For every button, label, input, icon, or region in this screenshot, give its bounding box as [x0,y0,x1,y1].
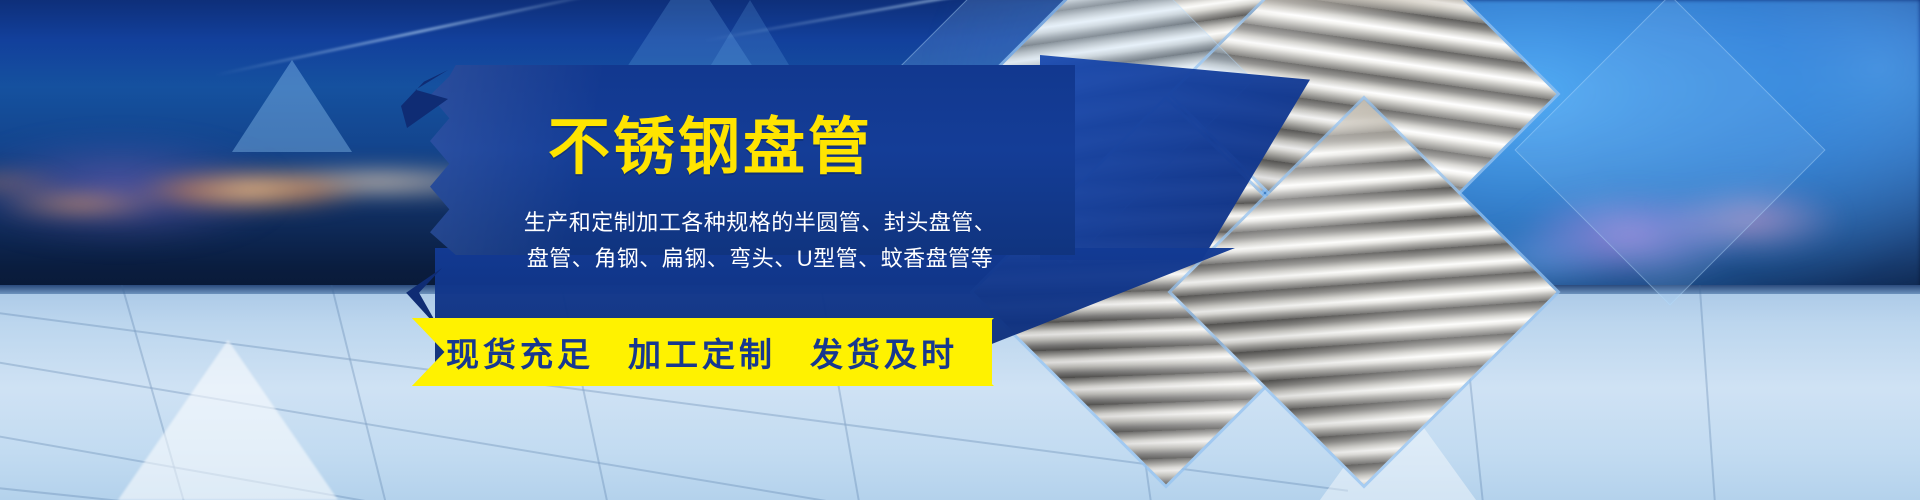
subtitle-line-2: 盘管、角钢、扁钢、弯头、U型管、蚊香盘管等 [500,241,1020,277]
selling-point-1: 现货充足 [446,328,594,376]
decor-triangle-left [232,60,352,152]
selling-point-2: 加工定制 [628,328,776,376]
page-title: 不锈钢盘管 [548,96,873,186]
subtitle-line-1: 生产和定制加工各种规格的半圆管、封头盘管、 [500,205,1020,241]
decor-triangle-white-left [118,340,338,500]
subtitle: 生产和定制加工各种规格的半圆管、封头盘管、 盘管、角钢、扁钢、弯头、U型管、蚊香… [500,205,1020,277]
selling-points-list: 现货充足 加工定制 发货及时 [412,318,992,386]
product-hero-banner: 不锈钢盘管 生产和定制加工各种规格的半圆管、封头盘管、 盘管、角钢、扁钢、弯头、… [0,0,1920,500]
selling-point-3: 发货及时 [810,328,958,376]
